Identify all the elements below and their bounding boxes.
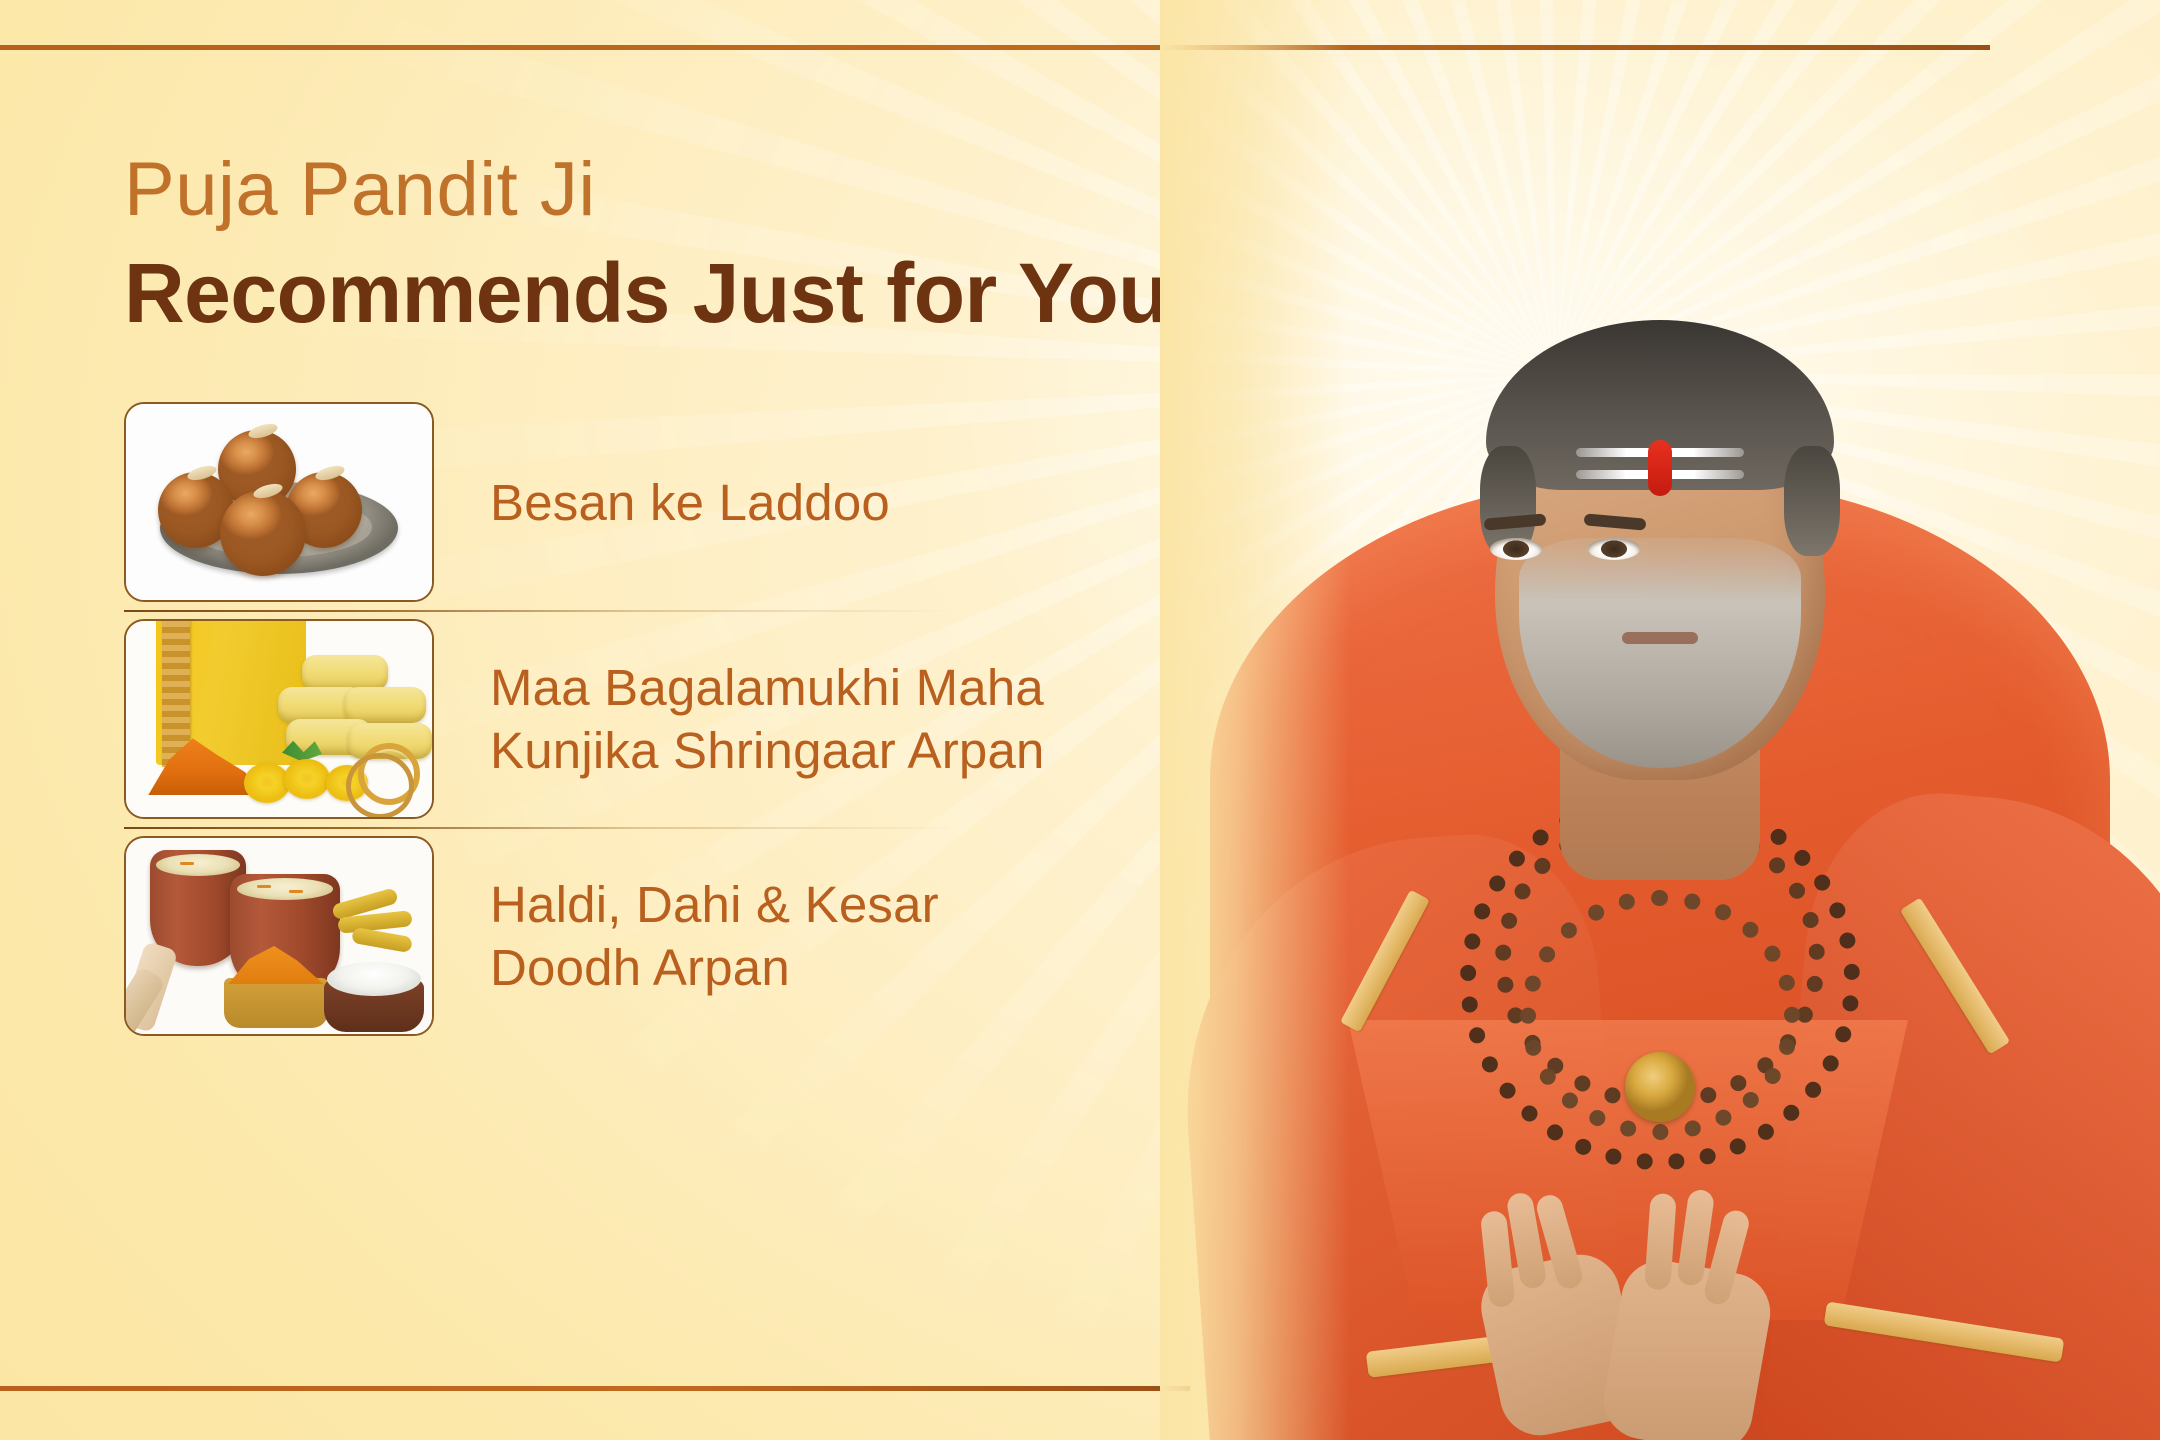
- hand-right: [1598, 1254, 1777, 1440]
- marigold-flower: [284, 759, 330, 799]
- page-title: Recommends Just for You: [124, 247, 1184, 339]
- haldi-dahi-image: [126, 838, 432, 1034]
- list-item[interactable]: Besan ke Laddoo: [124, 395, 1104, 610]
- list-item-label: Haldi, Dahi & Kesar Doodh Arpan: [490, 873, 939, 999]
- list-item-label-line1: Haldi, Dahi & Kesar: [490, 873, 939, 936]
- finger: [1644, 1193, 1677, 1291]
- list-item-label: Besan ke Laddoo: [490, 471, 890, 534]
- peda-sweet: [302, 655, 388, 691]
- laddoo-ball: [220, 490, 306, 576]
- list-item-label: Maa Bagalamukhi Maha Kunjika Shringaar A…: [490, 656, 1045, 782]
- haldi-dahi-kesar-doodh-thumbnail[interactable]: [124, 836, 434, 1036]
- saffron-strand: [289, 890, 303, 893]
- laddoo-image: [126, 404, 432, 600]
- turmeric-root-group: [326, 894, 422, 952]
- list-item[interactable]: Maa Bagalamukhi Maha Kunjika Shringaar A…: [124, 612, 1104, 827]
- gold-pendant: [1625, 1052, 1695, 1122]
- yogurt-bowl: [324, 980, 424, 1032]
- saffron-strand: [257, 885, 271, 888]
- gold-bangles-shape: [358, 743, 420, 805]
- red-kumkum-mark: [1648, 440, 1672, 496]
- saffron-milk-surface: [156, 854, 240, 876]
- besan-ke-laddoo-thumbnail[interactable]: [124, 402, 434, 602]
- turmeric-bowl: [224, 978, 328, 1028]
- marigold-flower: [244, 763, 290, 803]
- eye-right: [1588, 538, 1640, 560]
- eye-left: [1490, 538, 1542, 560]
- saffron-milk-surface: [237, 878, 334, 900]
- banner-eyebrow: Puja Pandit Ji: [124, 150, 1184, 231]
- list-item[interactable]: Haldi, Dahi & Kesar Doodh Arpan: [124, 829, 1104, 1044]
- peda-sweet: [344, 687, 426, 723]
- list-item-label-line1: Maa Bagalamukhi Maha: [490, 656, 1045, 719]
- bottom-divider-rule: [0, 1386, 1190, 1391]
- recommendation-list: Besan ke Laddoo: [124, 395, 1104, 1044]
- figure-left-fade: [1160, 0, 1350, 1440]
- banner-content: Puja Pandit Ji Recommends Just for You B…: [124, 150, 1184, 1044]
- turmeric-root: [351, 927, 413, 953]
- maa-bagalamukhi-shringaar-thumbnail[interactable]: [124, 619, 434, 819]
- saffron-strand: [180, 862, 194, 865]
- pandit-priest-portrait: [1160, 0, 2160, 1440]
- priest-mouth: [1622, 632, 1698, 644]
- list-item-label-line1: Besan ke Laddoo: [490, 471, 890, 534]
- recommendation-banner: Puja Pandit Ji Recommends Just for You B…: [0, 0, 2160, 1440]
- list-item-label-line2: Doodh Arpan: [490, 936, 939, 999]
- shringaar-image: [126, 621, 432, 817]
- list-item-label-line2: Kunjika Shringaar Arpan: [490, 719, 1045, 782]
